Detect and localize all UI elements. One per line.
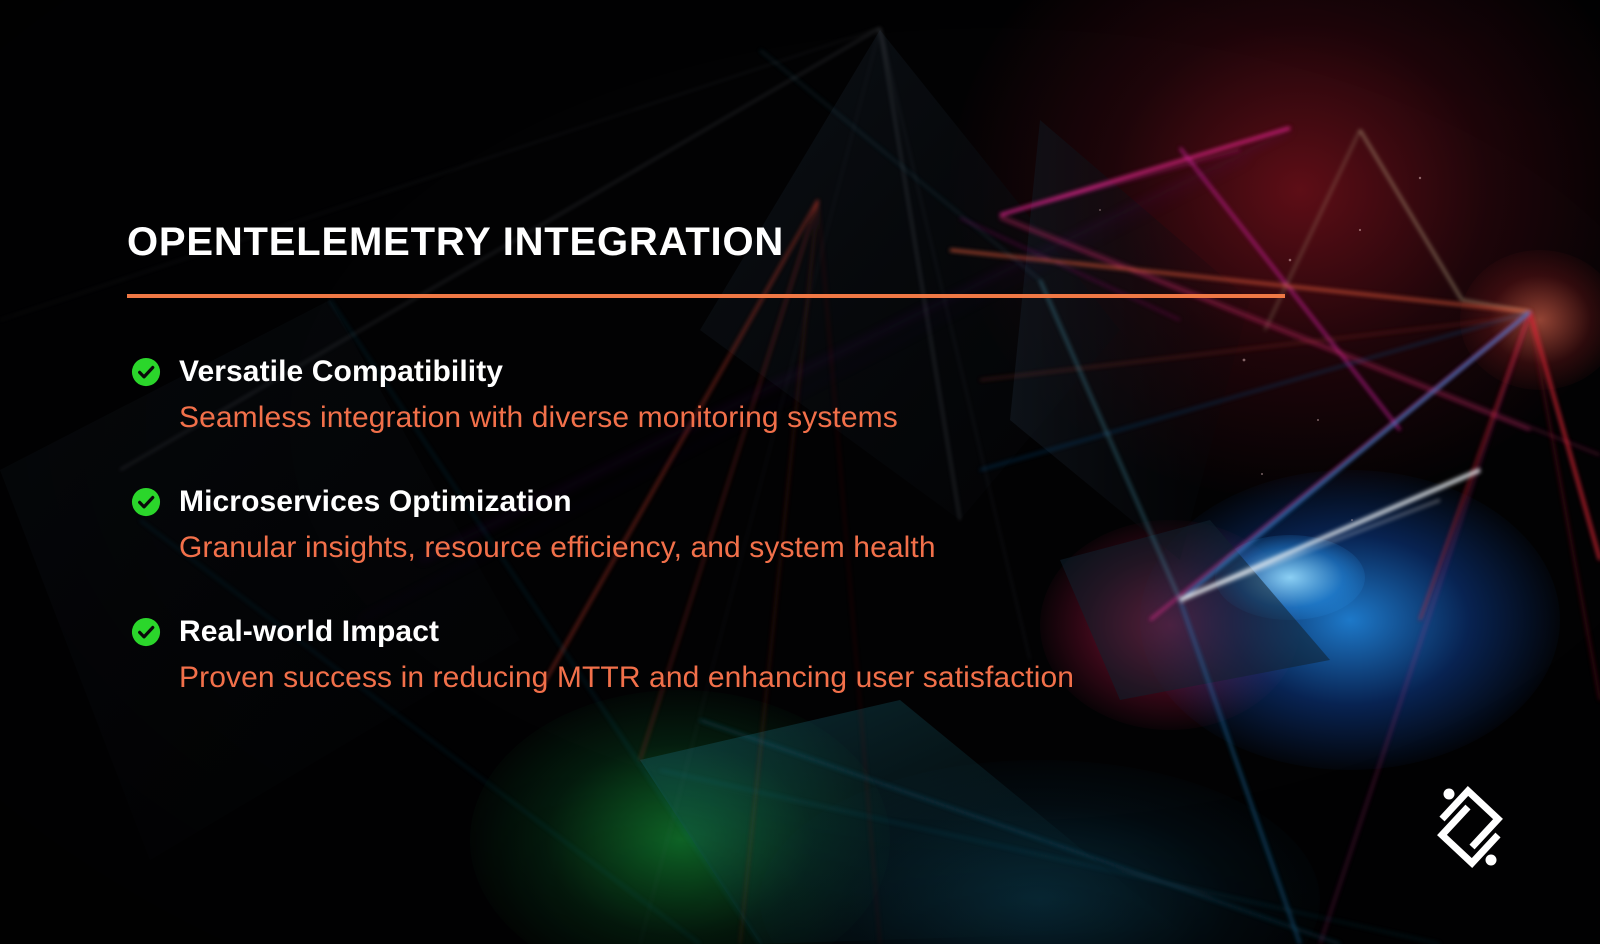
list-item: Versatile Compatibility Seamless integra…	[127, 352, 1447, 438]
check-circle-icon	[131, 357, 161, 387]
brand-logo-icon	[1428, 781, 1512, 873]
list-item-subtext: Granular insights, resource efficiency, …	[179, 528, 1447, 568]
check-circle-icon	[131, 617, 161, 647]
title-underline-rule	[127, 294, 1285, 298]
list-item-subtext: Seamless integration with diverse monito…	[179, 398, 1447, 438]
list-item: Real-world Impact Proven success in redu…	[127, 612, 1447, 698]
list-item-heading: Versatile Compatibility	[179, 352, 1447, 392]
list-item: Microservices Optimization Granular insi…	[127, 482, 1447, 568]
check-circle-icon	[131, 487, 161, 517]
list-item-subtext: Proven success in reducing MTTR and enha…	[179, 658, 1447, 698]
list-item-heading: Microservices Optimization	[179, 482, 1447, 522]
slide-root: OPENTELEMETRY INTEGRATION Versatile Comp…	[0, 0, 1600, 944]
slide-content: OPENTELEMETRY INTEGRATION Versatile Comp…	[0, 0, 1600, 944]
bullet-list: Versatile Compatibility Seamless integra…	[127, 352, 1447, 698]
list-item-heading: Real-world Impact	[179, 612, 1447, 652]
page-title: OPENTELEMETRY INTEGRATION	[127, 220, 784, 265]
